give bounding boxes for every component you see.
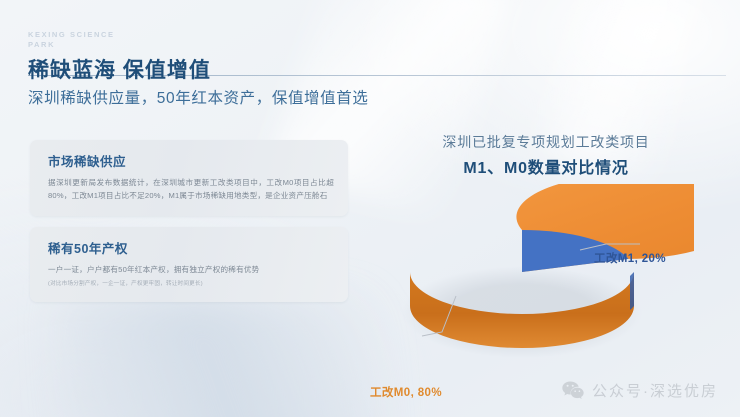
feature-card-property-right: 稀有50年产权 一户一证，户户都有50年红本产权，拥有独立产权的稀有优势 (对比… [30,227,348,302]
page-subtitle: 深圳稀缺供应量，50年红本资产，保值增值首选 [28,86,718,108]
card-title: 市场稀缺供应 [48,151,334,170]
card-body: 据深圳更新局发布数据统计，在深圳城市更新工改类项目中，工改M0项目占比超80%，… [48,176,334,203]
brand-eyebrow: KEXING SCIENCE PARK [28,30,718,50]
pie-chart-svg [394,184,694,374]
pie-label-m0: 工改M0, 80% [370,384,442,400]
title-row: 稀缺蓝海 保值增值 [28,54,718,80]
card-title: 稀有50年产权 [48,238,334,257]
page-title: 稀缺蓝海 保值增值 [28,54,211,84]
pie-label-m1: 工改M1, 20% [594,250,666,266]
footer-text: 公众号·深选优房 [592,380,718,401]
card-body: 一户一证，户户都有50年红本产权，拥有独立产权的稀有优势 [48,263,334,276]
pie-chart: 工改M1, 20% 工改M0, 80% [372,184,720,374]
background-streak-bottom [60,297,380,417]
feature-card-market-supply: 市场稀缺供应 据深圳更新局发布数据统计，在深圳城市更新工改类项目中，工改M0项目… [30,140,348,216]
pie-chart-panel: 深圳已批复专项规划工改类项目 M1、M0数量对比情况 [372,132,720,372]
chart-subtitle: M1、M0数量对比情况 [372,154,720,178]
slide-header: KEXING SCIENCE PARK 稀缺蓝海 保值增值 深圳稀缺供应量，50… [28,30,718,108]
chart-title: 深圳已批复专项规划工改类项目 [372,132,720,152]
pie-slice-m1-side [630,272,634,310]
card-note: (对比市场分割产权，一企一证，产权更牢固，转让时间更长) [48,280,334,289]
wechat-icon [562,381,584,400]
feature-card-list: 市场稀缺供应 据深圳更新局发布数据统计，在深圳城市更新工改类项目中，工改M0项目… [30,140,348,313]
footer-watermark: 公众号·深选优房 [562,380,718,401]
